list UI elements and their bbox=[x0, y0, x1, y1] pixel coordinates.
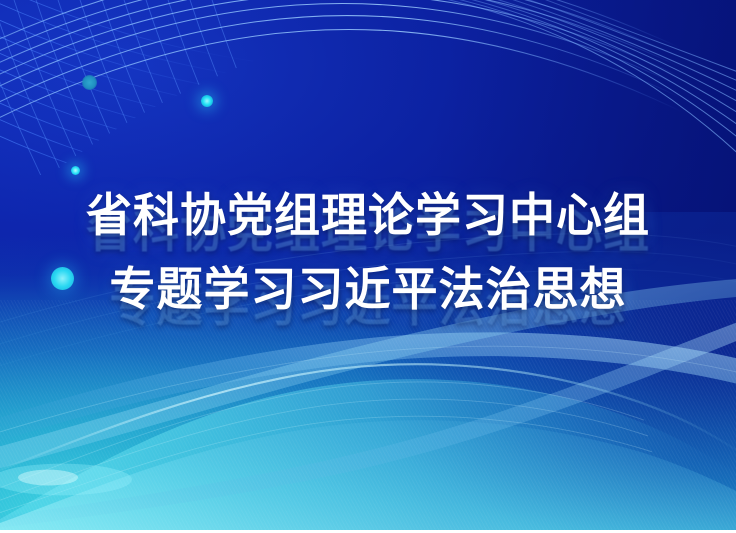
title-line-2-text: 专题学习习近平法治思想 bbox=[110, 262, 627, 316]
title-line-1: 省科协党组理论学习中心组 省科协党组理论学习中心组 bbox=[0, 178, 736, 252]
title-line-2: 专题学习习近平法治思想 专题学习习近平法治思想 bbox=[0, 252, 736, 326]
glow-dot-3 bbox=[71, 166, 80, 175]
glow-dot-1 bbox=[82, 75, 97, 90]
title-line-1-text: 省科协党组理论学习中心组 bbox=[86, 188, 650, 242]
glow-dot-2 bbox=[201, 95, 213, 107]
poster-banner: 省科协党组理论学习中心组 省科协党组理论学习中心组 专题学习习近平法治思想 专题… bbox=[0, 0, 736, 533]
poster-title: 省科协党组理论学习中心组 省科协党组理论学习中心组 专题学习习近平法治思想 专题… bbox=[0, 178, 736, 326]
